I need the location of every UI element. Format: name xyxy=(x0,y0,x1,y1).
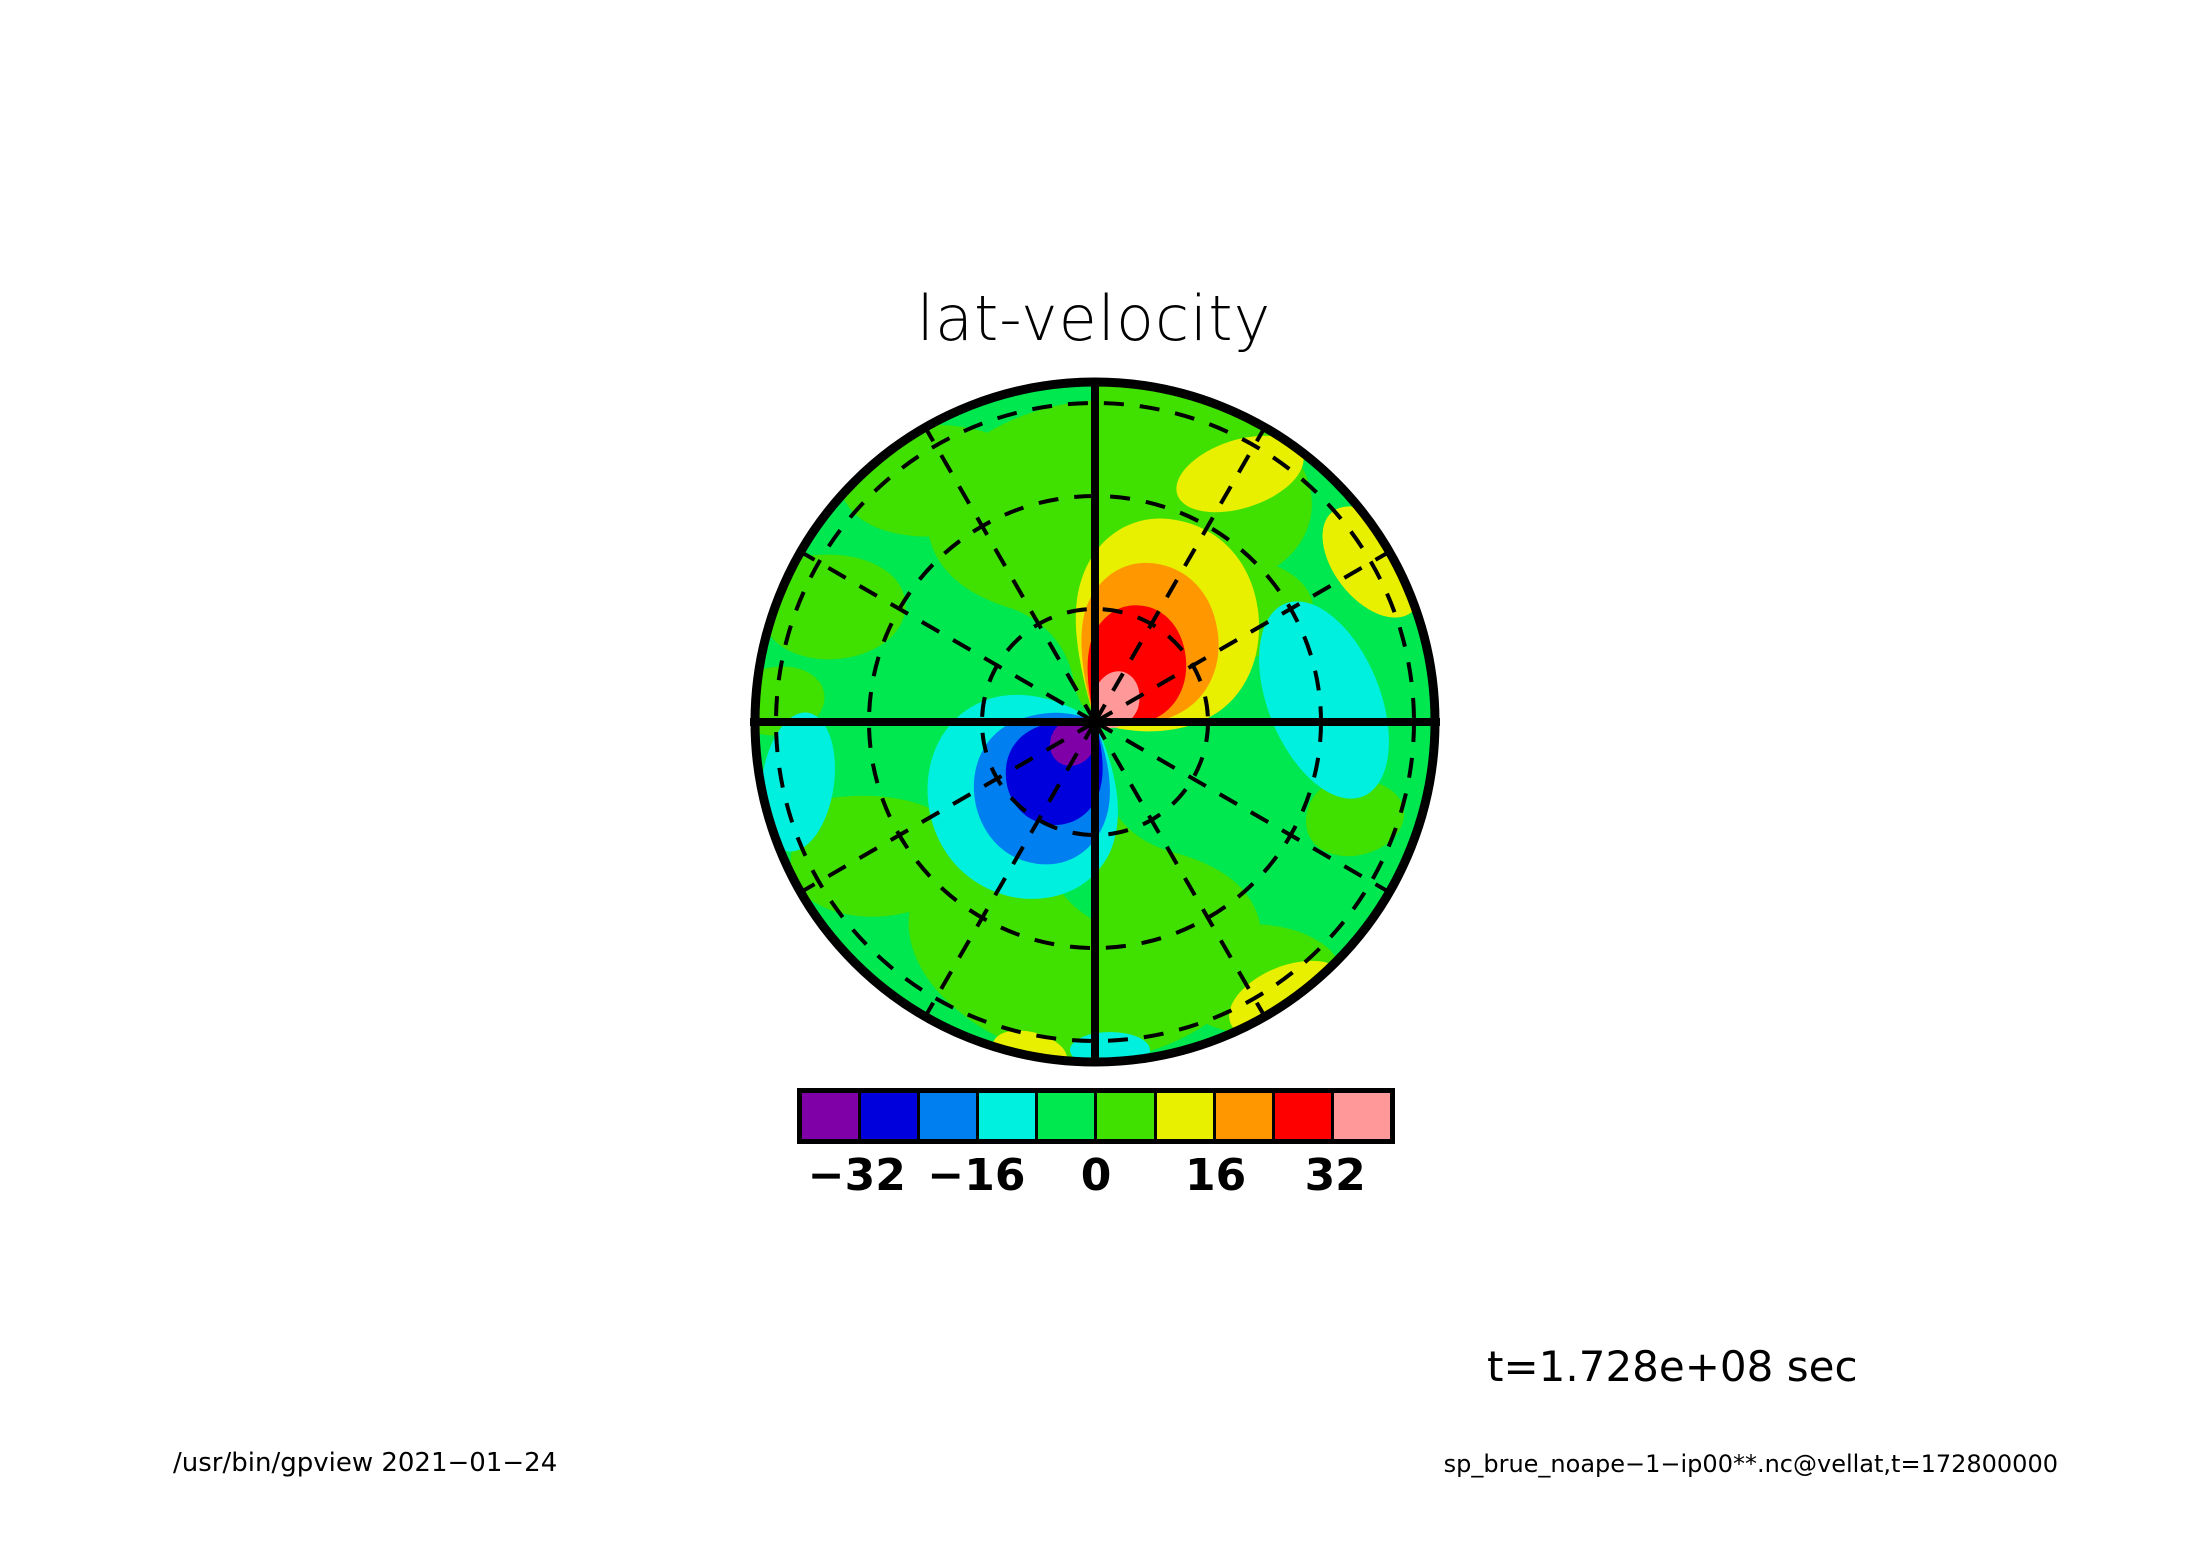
colorbar-tick-label: −32 xyxy=(808,1150,906,1201)
colorbar-swatch-salmon-pink[interactable] xyxy=(1334,1093,1390,1139)
footer-source: sp_brue_noape−1−ip00**.nc@vellat,t=17280… xyxy=(1444,1450,2058,1478)
colorbar-swatch-yellow[interactable] xyxy=(1157,1093,1216,1139)
colorbar-swatch-purple[interactable] xyxy=(802,1093,861,1139)
colorbar-swatch-azure[interactable] xyxy=(920,1093,979,1139)
colorbar-swatch-blue[interactable] xyxy=(861,1093,920,1139)
colorbar-swatch-cyan[interactable] xyxy=(979,1093,1038,1139)
colorbar-tick-label: −16 xyxy=(927,1150,1025,1201)
colorbar-swatch-green[interactable] xyxy=(1097,1093,1156,1139)
colorbar-swatch-red[interactable] xyxy=(1275,1093,1334,1139)
polar-plot-svg xyxy=(0,0,2188,1546)
polar-contour-plot xyxy=(0,0,2188,1546)
time-annotation: t=1.728e+08 sec xyxy=(1487,1342,1858,1391)
positive-dipole xyxy=(1076,518,1259,731)
colorbar-tick-label: 16 xyxy=(1185,1150,1246,1201)
colorbar-tick-label: 32 xyxy=(1305,1150,1366,1201)
colorbar[interactable] xyxy=(797,1088,1395,1144)
colorbar-tick-label: 0 xyxy=(1081,1150,1112,1201)
colorbar-swatch-orange[interactable] xyxy=(1216,1093,1275,1139)
colorbar-labels: −32−1601632 xyxy=(797,1150,1395,1206)
footer-command: /usr/bin/gpview 2021−01−24 xyxy=(173,1448,557,1478)
colorbar-swatch-spring-green[interactable] xyxy=(1038,1093,1097,1139)
